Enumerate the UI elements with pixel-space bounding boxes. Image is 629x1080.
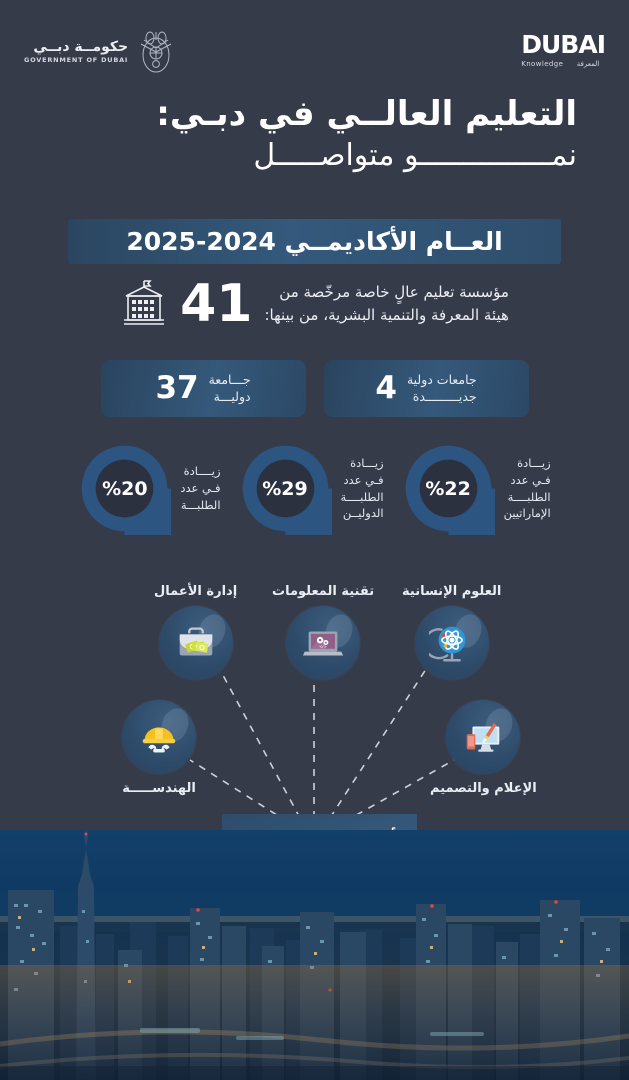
- hardhat-wrench-icon: [122, 700, 196, 774]
- gov-logo-english: GOVERNMENT OF DUBAI: [24, 57, 128, 64]
- donut-2-value: %20: [78, 442, 171, 535]
- svg-text:</>: </>: [319, 644, 327, 649]
- dk-wordmark: DUBAI: [521, 32, 605, 57]
- donut-0-graphic: %22: [402, 442, 495, 535]
- discipline-it-label: تقنية المعلومات: [272, 584, 374, 599]
- donut-emirati-students: زيـــادة فـي عدد الطلبــــة الإماراتيين …: [402, 442, 551, 535]
- discipline-business[interactable]: إدارة الأعمال: [154, 584, 237, 680]
- dubai-skyline-image: [0, 830, 629, 1080]
- stat-box-1-label: جـــامعة دوليـــة: [209, 372, 251, 406]
- page-title: التعليم العالــي في دبـي: نمــــــــــــ…: [0, 95, 629, 174]
- logo-row: حكومــة دبــي GOVERNMENT OF DUBAI: [0, 26, 629, 84]
- donut-1-label-line-3: الدوليــن: [341, 505, 384, 522]
- dk-sub-ar: المعرفة: [577, 60, 599, 68]
- discipline-humanities[interactable]: العلوم الإنسانية: [402, 584, 501, 680]
- discipline-media-label: الإعلام والتصميم: [430, 781, 537, 796]
- laptop-gears-icon: </>: [286, 606, 360, 680]
- donut-1-value: %29: [239, 442, 332, 535]
- donut-1-label-line-0: زيـــادة: [341, 455, 384, 472]
- title-line-1: التعليم العالــي في دبـي:: [52, 95, 577, 134]
- briefcase-money-icon: [159, 606, 233, 680]
- discipline-business-label: إدارة الأعمال: [154, 584, 237, 599]
- ground-glow: [0, 965, 629, 1080]
- donut-1-label: زيـــادة فـي عدد الطلبــــة الدوليــن: [341, 455, 384, 522]
- institutions-text: مؤسسة تعليم عالٍ خاصة مرخّصة من هيئة الم…: [264, 281, 508, 328]
- donut-0-label-line-2: الطلبــــة: [504, 489, 551, 506]
- institutions-text-line-1: مؤسسة تعليم عالٍ خاصة مرخّصة من: [264, 281, 508, 304]
- dubai-government-emblem-icon: [136, 28, 176, 76]
- stat-box-new-international-universities: جامعات دولية جديـــــــــدة 4: [324, 360, 529, 417]
- donut-1-label-line-2: الطلبــــة: [341, 489, 384, 506]
- donut-0-label-line-0: زيـــادة: [504, 455, 551, 472]
- stat-box-0-label-line-2: جديـــــــــدة: [407, 389, 477, 406]
- institution-building-icon: [120, 278, 168, 330]
- institutions-text-line-2: هيئة المعرفة والتنمية البشرية، من بينها:: [264, 304, 508, 327]
- donut-1-graphic: %29: [239, 442, 332, 535]
- donut-total-students: زيــــادة فـي عدد الطلبـــة %20: [78, 442, 220, 535]
- stat-box-0-number: 4: [375, 373, 397, 404]
- donut-2-label-line-1: فـي عدد: [180, 480, 220, 497]
- institutions-summary: مؤسسة تعليم عالٍ خاصة مرخّصة من هيئة الم…: [0, 278, 629, 330]
- dubai-knowledge-logo: DUBAI Knowledge المعرفة: [521, 32, 605, 68]
- discipline-engineering[interactable]: الهندســـــة: [122, 700, 196, 796]
- infographic-poster: حكومــة دبــي GOVERNMENT OF DUBAI: [0, 0, 629, 1080]
- donut-0-label-line-1: فـي عدد: [504, 472, 551, 489]
- gov-logo-arabic: حكومــة دبــي: [24, 40, 128, 55]
- growth-donut-charts: زيـــادة فـي عدد الطلبــــة الإماراتيين …: [0, 442, 629, 535]
- discipline-it[interactable]: تقنية المعلومات </>: [272, 584, 374, 680]
- donut-0-value: %22: [402, 442, 495, 535]
- globe-atom-icon: [415, 606, 489, 680]
- stat-box-1-label-line-1: جـــامعة: [209, 372, 251, 389]
- donut-2-label-line-0: زيــــادة: [180, 463, 220, 480]
- donut-international-students: زيـــادة فـي عدد الطلبــــة الدوليــن %2…: [239, 442, 384, 535]
- donut-2-label-line-2: الطلبـــة: [180, 497, 220, 514]
- stat-box-1-number: 37: [155, 373, 198, 404]
- discipline-engineering-label: الهندســـــة: [122, 781, 196, 796]
- academic-year-label: العــام الأكاديمــي 2024-2025: [126, 227, 502, 256]
- institutions-count: 41: [180, 278, 252, 330]
- title-line-2: نمـــــــــــــــو متواصـــــل: [52, 138, 577, 174]
- donut-0-label: زيـــادة فـي عدد الطلبــــة الإماراتيين: [504, 455, 551, 522]
- stat-box-0-label-line-1: جامعات دولية: [407, 372, 477, 389]
- academic-year-banner: العــام الأكاديمــي 2024-2025: [68, 219, 561, 264]
- stat-boxes: جامعات دولية جديـــــــــدة 4 جـــامعة د…: [0, 360, 629, 417]
- discipline-humanities-label: العلوم الإنسانية: [402, 584, 501, 599]
- stat-box-0-label: جامعات دولية جديـــــــــدة: [407, 372, 477, 406]
- donut-1-label-line-1: فـي عدد: [341, 472, 384, 489]
- stat-box-international-universities: جـــامعة دوليـــة 37: [101, 360, 306, 417]
- monitor-brush-icon: [446, 700, 520, 774]
- discipline-media[interactable]: الإعلام والتصميم: [430, 700, 537, 796]
- donut-2-graphic: %20: [78, 442, 171, 535]
- dk-sub-en: Knowledge: [521, 60, 563, 68]
- government-of-dubai-logo: حكومــة دبــي GOVERNMENT OF DUBAI: [24, 28, 176, 76]
- stat-box-1-label-line-2: دوليـــة: [209, 389, 251, 406]
- donut-2-label: زيــــادة فـي عدد الطلبـــة: [180, 463, 220, 513]
- donut-0-label-line-3: الإماراتيين: [504, 505, 551, 522]
